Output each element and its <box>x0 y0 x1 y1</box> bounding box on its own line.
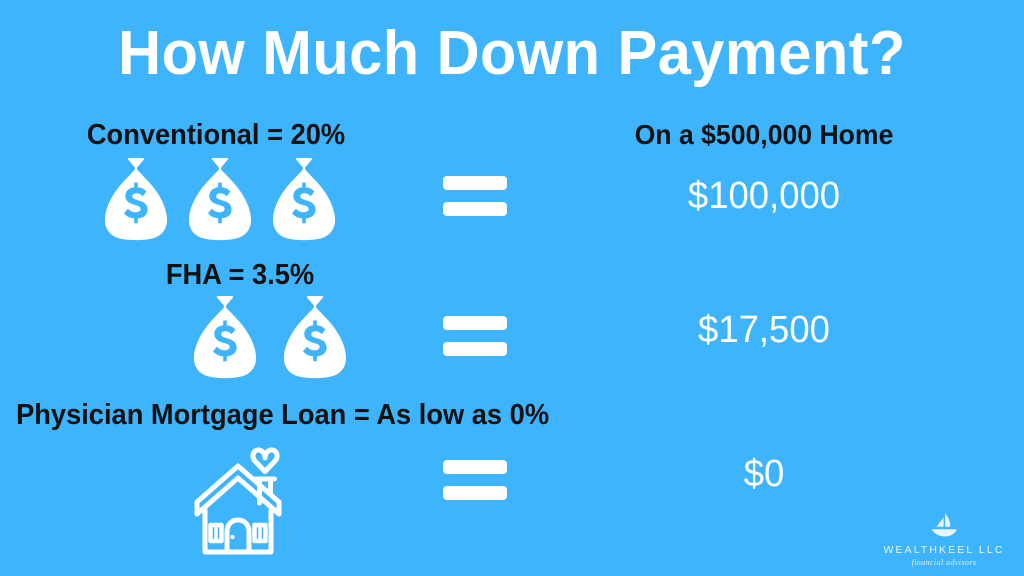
page-title: How Much Down Payment? <box>20 16 1003 92</box>
amount-fha: $17,500 <box>572 308 956 352</box>
money-bag-icon <box>100 158 172 242</box>
money-bag-icon <box>279 296 351 380</box>
money-bag-group-conventional <box>60 158 380 242</box>
amount-conventional: $100,000 <box>572 174 956 218</box>
row-label-fha: FHA = 3.5% <box>14 258 465 292</box>
down-payment-row: FHA = 3.5% $17,500 <box>0 258 1024 388</box>
equals-bar-bottom <box>443 342 507 356</box>
amount-physician: $0 <box>572 452 956 496</box>
equals-bar-top <box>443 176 507 190</box>
money-bag-icon <box>268 158 340 242</box>
infographic-canvas: How Much Down Payment? Conventional = 20… <box>0 0 1024 576</box>
logo-company-name: WEALTHKEEL LLC <box>878 544 1010 557</box>
money-bag-icon <box>184 158 256 242</box>
down-payment-row: Physician Mortgage Loan = As low as 0% <box>0 398 1024 548</box>
sailboat-icon <box>927 512 961 542</box>
brand-logo: WEALTHKEEL LLC financial advisors <box>878 512 1010 568</box>
logo-tagline: financial advisors <box>878 557 1010 568</box>
equals-icon <box>443 316 507 356</box>
equals-bar-top <box>443 316 507 330</box>
row-label-physician: Physician Mortgage Loan = As low as 0% <box>16 398 520 432</box>
house-heart-icon <box>191 440 339 558</box>
money-bag-group-fha <box>110 296 430 380</box>
right-column-heading: On a $500,000 Home <box>574 118 954 152</box>
row-label-conventional: Conventional = 20% <box>13 118 419 152</box>
equals-icon <box>443 176 507 216</box>
down-payment-row: Conventional = 20% On a $500,000 Home $1… <box>0 118 1024 253</box>
equals-bar-bottom <box>443 486 507 500</box>
equals-bar-top <box>443 460 507 474</box>
equals-icon <box>443 460 507 500</box>
house-icon-group <box>105 440 425 558</box>
money-bag-icon <box>189 296 261 380</box>
equals-bar-bottom <box>443 202 507 216</box>
